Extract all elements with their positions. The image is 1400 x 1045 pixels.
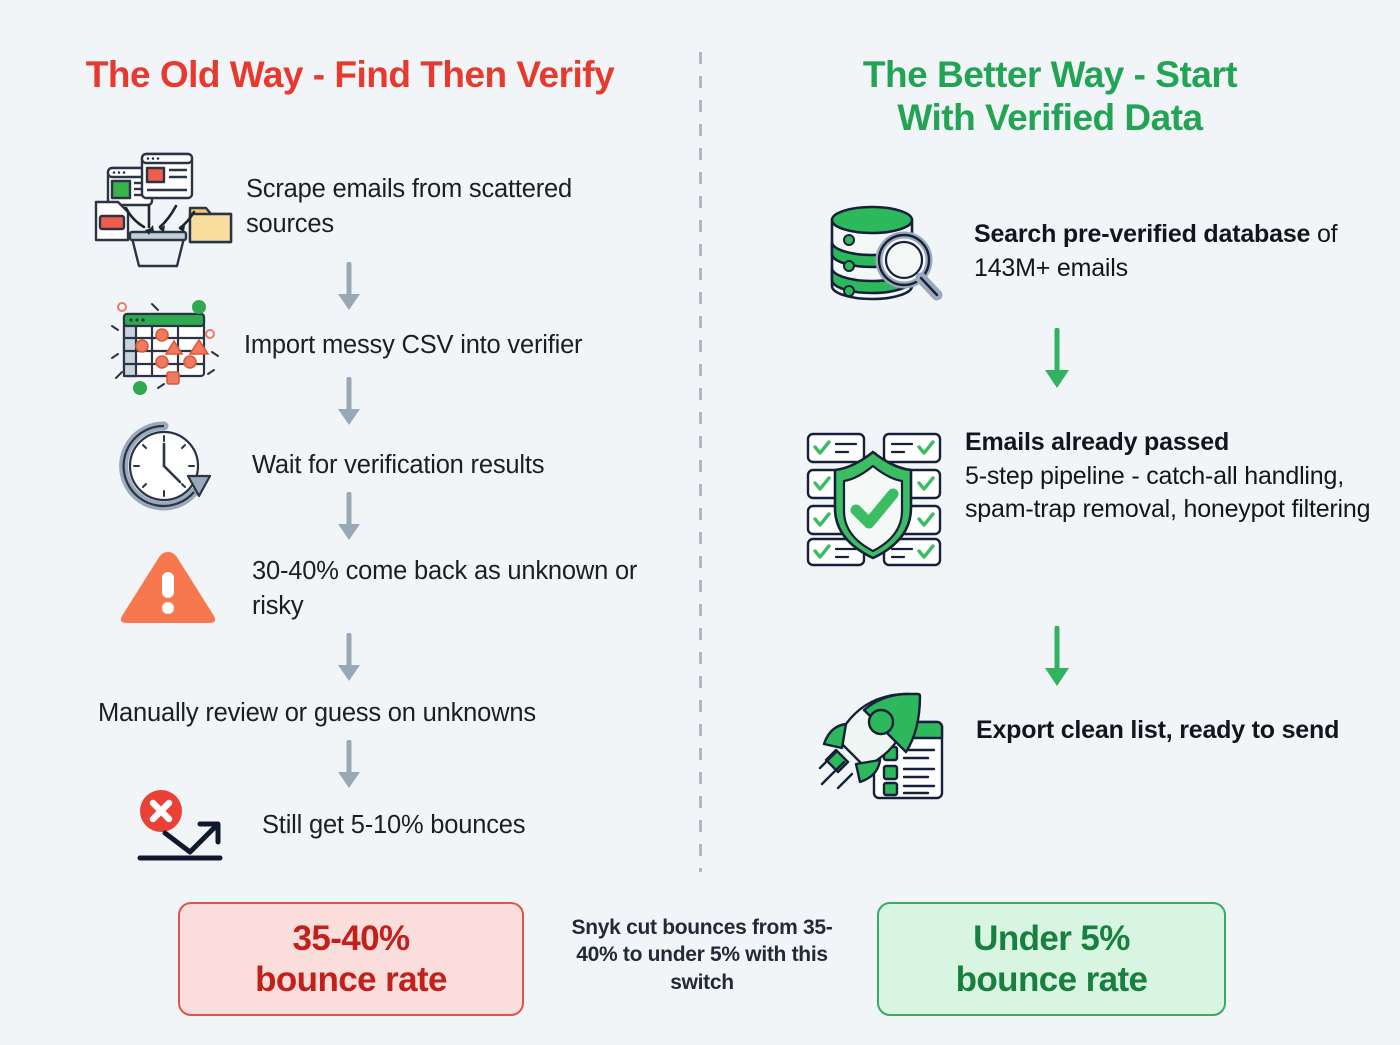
old-way-step-3: Wait for verification results (110, 418, 670, 514)
old-way-step-4-text: 30-40% come back as unknown or risky (252, 540, 670, 623)
better-way-arrow-2 (1040, 626, 1074, 695)
scrape-sources-icon (86, 150, 236, 270)
shield-check-icon (800, 424, 945, 569)
old-way-title: The Old Way - Find Then Verify (0, 54, 700, 97)
old-way-result-line2: bounce rate (255, 960, 447, 999)
better-way-step-3-text: Export clean list, ready to send (976, 690, 1378, 748)
switch-caption: Snyk cut bounces from 35-40% to under 5%… (566, 914, 838, 996)
better-way-step-1-bold: Search pre-verified database (974, 220, 1310, 248)
old-way-step-5-text: Manually review or guess on unknowns (98, 696, 678, 731)
database-search-icon (818, 196, 950, 308)
better-way-step-3: Export clean list, ready to send (818, 690, 1378, 804)
better-way-step-1-text: Search pre-verified database of 143M+ em… (974, 196, 1378, 285)
bounce-chart-error-icon (128, 786, 246, 866)
better-way-result-line2: bounce rate (956, 960, 1148, 999)
better-way-result-line1: Under 5% (973, 919, 1130, 958)
better-way-title: The Better Way - Start With Verified Dat… (700, 54, 1400, 140)
better-way-title-line1: The Better Way - Start (863, 54, 1237, 95)
messy-spreadsheet-icon (100, 296, 230, 400)
better-way-arrow-1 (1040, 328, 1074, 397)
better-way-result-box: Under 5% bounce rate (877, 902, 1226, 1016)
old-way-step-6-text: Still get 5-10% bounces (262, 786, 688, 843)
old-way-step-2-text: Import messy CSV into verifier (244, 296, 660, 363)
old-way-step-3-text: Wait for verification results (252, 418, 670, 483)
infographic-canvas: The Old Way - Find Then Verify (0, 0, 1400, 1045)
better-way-step-2-rest: 5-step pipeline - catch-all handling, sp… (965, 462, 1370, 524)
better-way-step-2-bold: Emails already passed (965, 428, 1229, 456)
better-way-title-line2: With Verified Data (897, 97, 1202, 138)
better-way-step-2: Emails already passed5-step pipeline - c… (800, 424, 1380, 569)
clock-wait-icon (110, 418, 230, 514)
column-divider (699, 52, 702, 872)
old-way-step-4: 30-40% come back as unknown or risky (110, 540, 670, 636)
old-way-result-box: 35-40% bounce rate (178, 902, 524, 1016)
old-way-step-1: Scrape emails from scattered sources (86, 150, 646, 270)
better-way-step-3-bold: Export clean list, ready to send (976, 716, 1339, 744)
old-way-step-2: Import messy CSV into verifier (100, 296, 660, 400)
old-way-step-5: Manually review or guess on unknowns (98, 696, 678, 731)
rocket-list-icon (818, 690, 952, 804)
old-way-step-6: Still get 5-10% bounces (128, 786, 688, 866)
better-way-step-1: Search pre-verified database of 143M+ em… (818, 196, 1378, 308)
old-way-step-1-text: Scrape emails from scattered sources (246, 150, 646, 241)
better-way-step-2-text: Emails already passed5-step pipeline - c… (965, 424, 1380, 527)
warning-triangle-icon (110, 540, 230, 636)
old-way-result-line1: 35-40% (292, 919, 409, 958)
old-way-arrow-4 (332, 633, 366, 690)
